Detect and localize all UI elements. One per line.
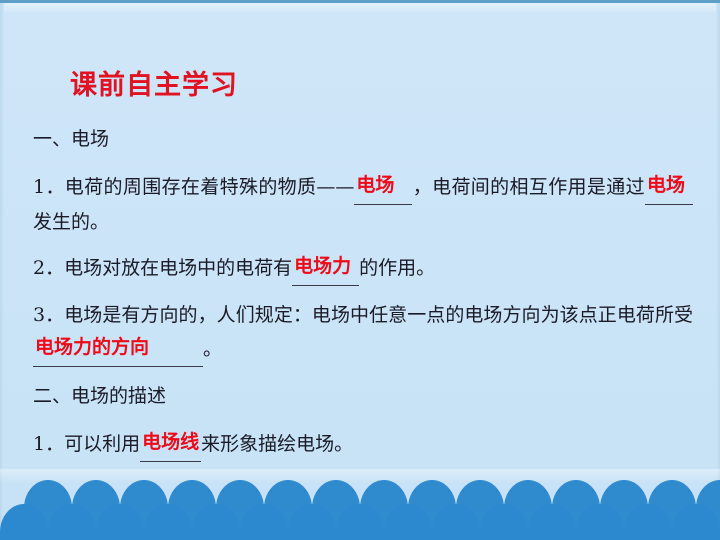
static-text: 1．电荷的周围存在着特殊的物质—— xyxy=(33,176,354,198)
section-1-heading: 一、电场 xyxy=(33,122,693,156)
scallop-shape xyxy=(480,504,528,540)
scallop-shape xyxy=(288,504,336,540)
top-sheen-strip xyxy=(0,3,720,12)
static-text: 来形象描绘电场。 xyxy=(201,433,353,455)
item-1-1: 1．电荷的周围存在着特殊的物质——电场，电荷间的相互作用是通过电场发生的。 xyxy=(33,170,693,239)
section-2-heading: 二、电场的描述 xyxy=(33,379,693,413)
scallop-shape xyxy=(48,504,96,540)
fill-in-blank[interactable]: 电场 xyxy=(354,170,412,205)
blank-answer: 电场 xyxy=(645,174,687,196)
page-title: 课前自主学习 xyxy=(70,71,238,101)
static-text: ，电荷间的相互作用是通过 xyxy=(412,176,645,198)
scallop-shape xyxy=(384,504,432,540)
blank-answer: 电场 xyxy=(354,174,396,196)
item-1-3: 3．电场是有方向的，人们规定：电场中任意一点的电场方向为该点正电荷所受电场力的方… xyxy=(33,298,693,367)
blank-answer: 电场力的方向 xyxy=(33,336,151,358)
scallop-shape xyxy=(144,504,192,540)
scallop-shape xyxy=(96,504,144,540)
slide-body: 一、电场1．电荷的周围存在着特殊的物质——电场，电荷间的相互作用是通过电场发生的… xyxy=(33,122,693,474)
scallop-shape xyxy=(240,504,288,540)
static-text: 二、电场的描述 xyxy=(33,385,166,407)
slide-canvas: 课前自主学习 一、电场1．电荷的周围存在着特殊的物质——电场，电荷间的相互作用是… xyxy=(0,0,720,540)
static-text: 1．可以利用 xyxy=(33,433,140,455)
static-text: 的作用。 xyxy=(359,257,435,279)
blank-answer: 电场力 xyxy=(292,255,353,277)
scallop-shape xyxy=(528,504,576,540)
scallop-row-front xyxy=(0,504,720,540)
scallop-shape xyxy=(576,504,624,540)
fill-in-blank[interactable]: 电场 xyxy=(645,170,693,205)
fill-in-blank[interactable]: 电场力的方向 xyxy=(33,332,203,367)
static-text: 一、电场 xyxy=(33,128,109,150)
scallop-shape xyxy=(432,504,480,540)
static-text: 发生的。 xyxy=(33,211,109,233)
item-1-2: 2．电场对放在电场中的电荷有电场力的作用。 xyxy=(33,251,693,286)
static-text: 2．电场对放在电场中的电荷有 xyxy=(33,257,292,279)
scallop-decoration xyxy=(0,455,720,540)
fill-in-blank[interactable]: 电场力 xyxy=(292,251,359,286)
blank-answer: 电场线 xyxy=(140,431,201,453)
scallop-shape xyxy=(336,504,384,540)
scallop-shape xyxy=(624,504,672,540)
scallop-shape xyxy=(672,504,720,540)
static-text: 。 xyxy=(203,338,222,360)
scallop-shape xyxy=(192,504,240,540)
scallop-shape xyxy=(0,504,48,540)
static-text: 3．电场是有方向的，人们规定：电场中任意一点的电场方向为该点正电荷所受 xyxy=(33,304,693,326)
